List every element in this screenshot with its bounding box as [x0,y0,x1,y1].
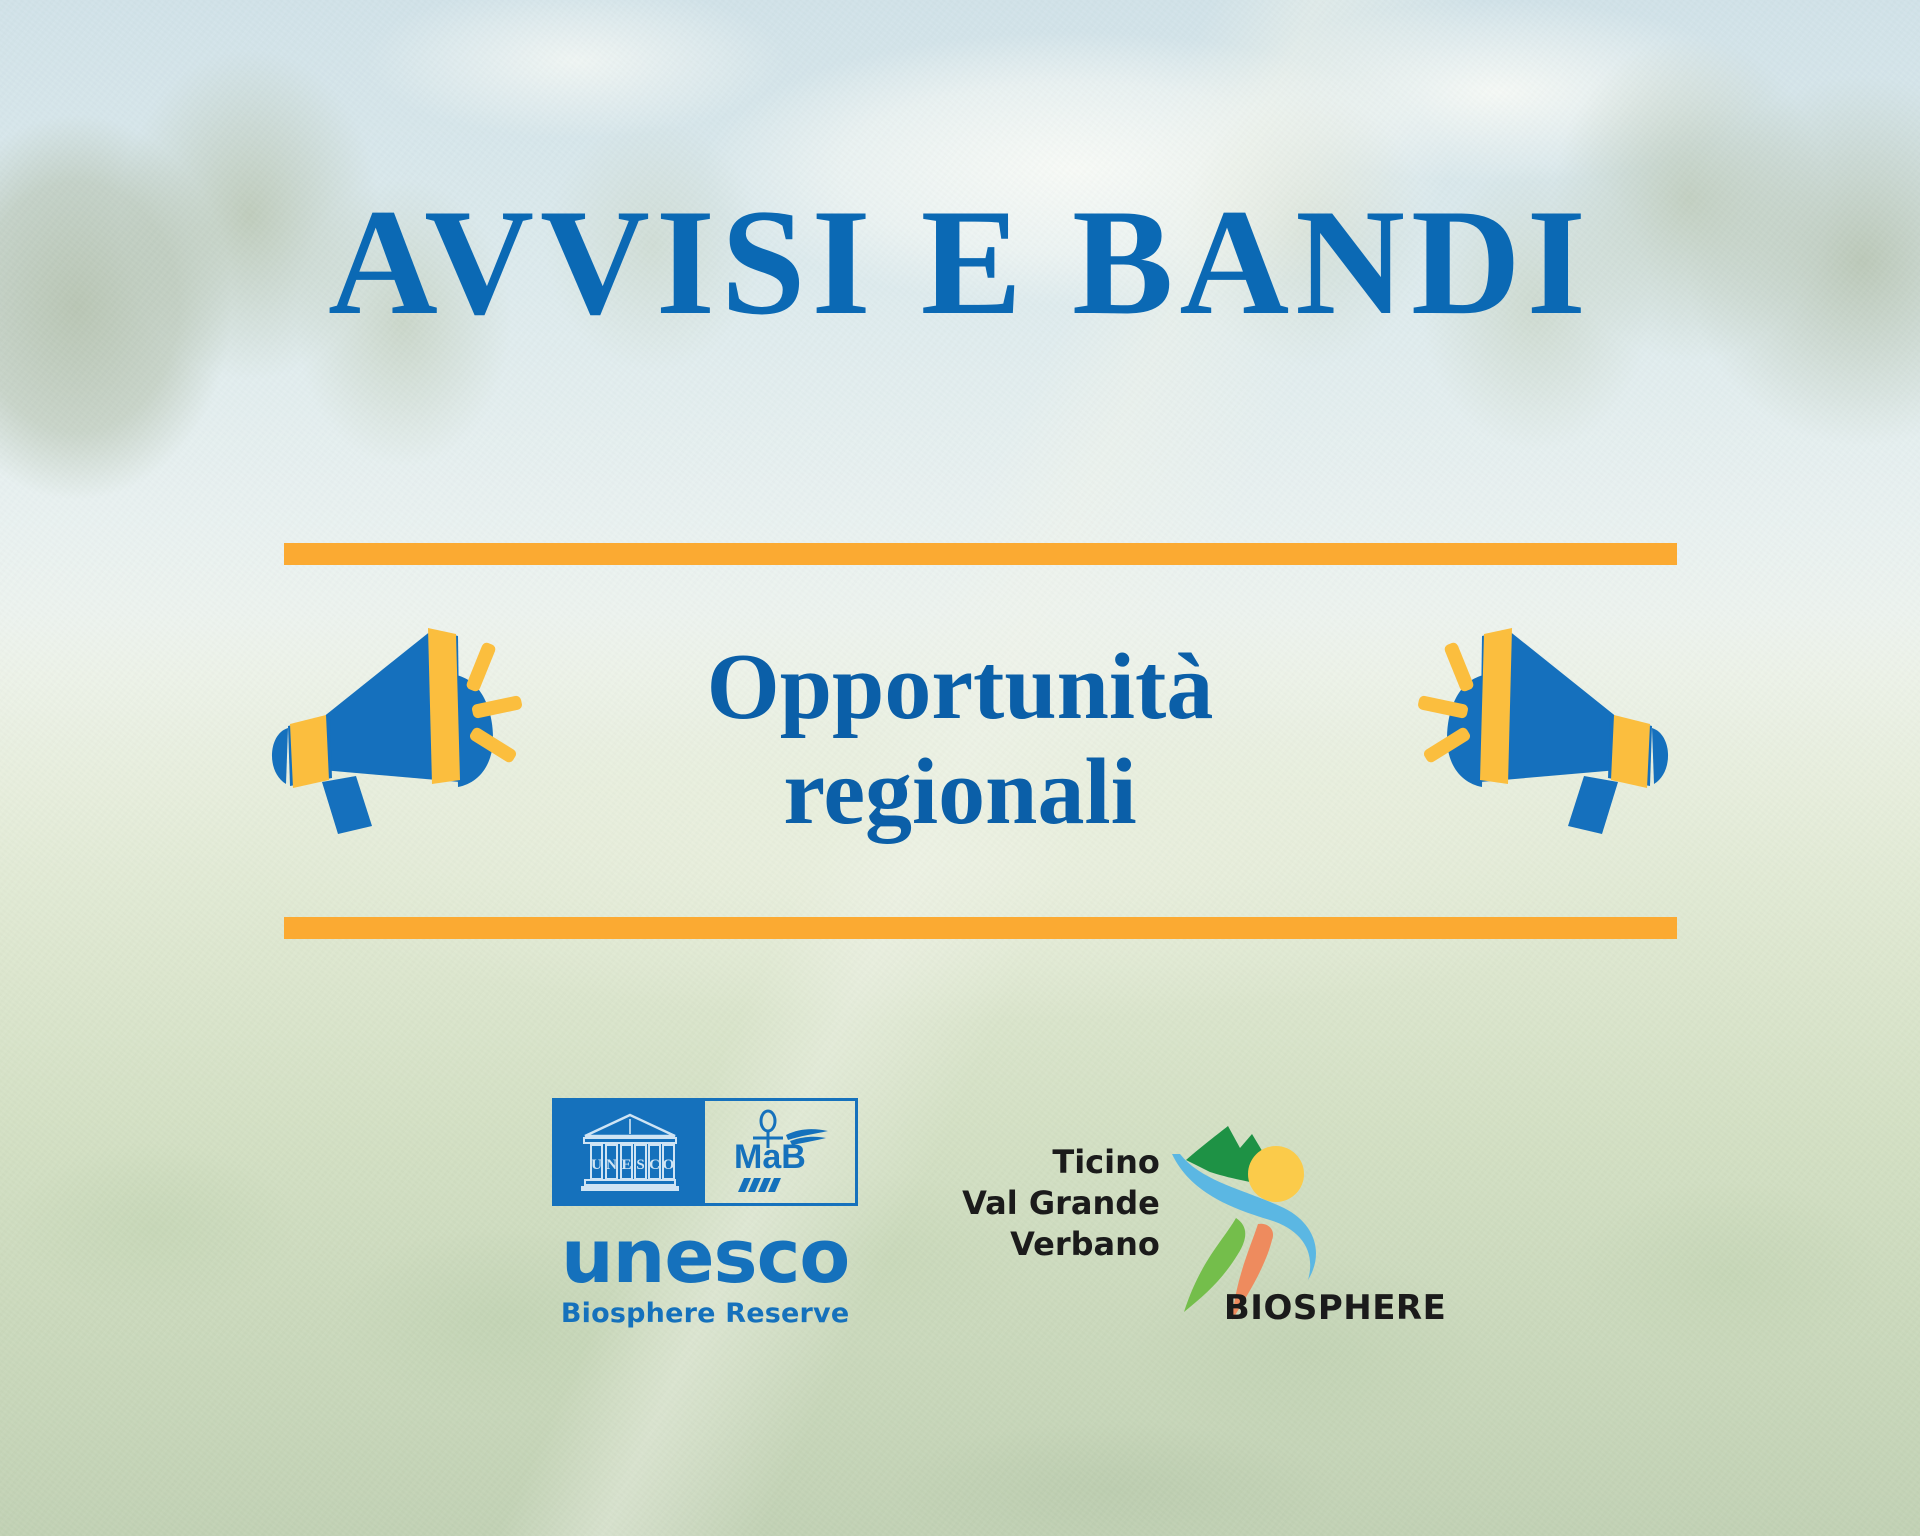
svg-text:E: E [622,1157,632,1173]
svg-text:MaB: MaB [734,1138,806,1176]
poster-content: AVVISI E BANDI Opportunità regionali [0,0,1920,1536]
svg-text:S: S [636,1157,644,1173]
biosphere-mark-wrap: BIOSPHERE [1166,1112,1376,1327]
megaphone-icon-left [260,620,560,850]
unesco-logo: U N E S C O [544,1098,866,1329]
mab-emblem-cell: MaB [705,1101,855,1203]
tvgv-line-3: Verbano [962,1224,1160,1265]
unesco-temple-cell: U N E S C O [555,1101,705,1203]
divider-bottom [284,917,1677,939]
unesco-emblem-box: U N E S C O [552,1098,858,1206]
unesco-tagline: Biosphere Reserve [561,1298,849,1329]
unesco-wordmark: unesco [561,1222,849,1292]
tvgv-line-1: Ticino [962,1142,1160,1183]
unesco-temple-icon: U N E S C O [571,1109,689,1195]
svg-text:N: N [606,1157,617,1173]
svg-text:C: C [649,1157,660,1173]
megaphone-icon [260,620,560,850]
page-title: AVVISI E BANDI [0,186,1920,338]
tvgv-wordmark: Ticino Val Grande Verbano [962,1112,1160,1265]
megaphone-icon [1380,620,1680,850]
mab-emblem-icon: MaB [720,1108,840,1196]
megaphone-icon-right [1380,620,1680,850]
logo-row: U N E S C O [0,1098,1920,1329]
svg-text:O: O [663,1157,675,1173]
headline-line-2: regionali [560,740,1360,845]
biosphere-label: BIOSPHERE [1224,1288,1446,1328]
tvgv-biosphere-logo: Ticino Val Grande Verbano [962,1112,1376,1327]
divider-top [284,543,1677,565]
headline-line-1: Opportunità [707,635,1214,739]
poster-canvas: AVVISI E BANDI Opportunità regionali [0,0,1920,1536]
tvgv-line-2: Val Grande [962,1183,1160,1224]
headline: Opportunità regionali [560,635,1360,846]
svg-text:U: U [591,1157,602,1173]
